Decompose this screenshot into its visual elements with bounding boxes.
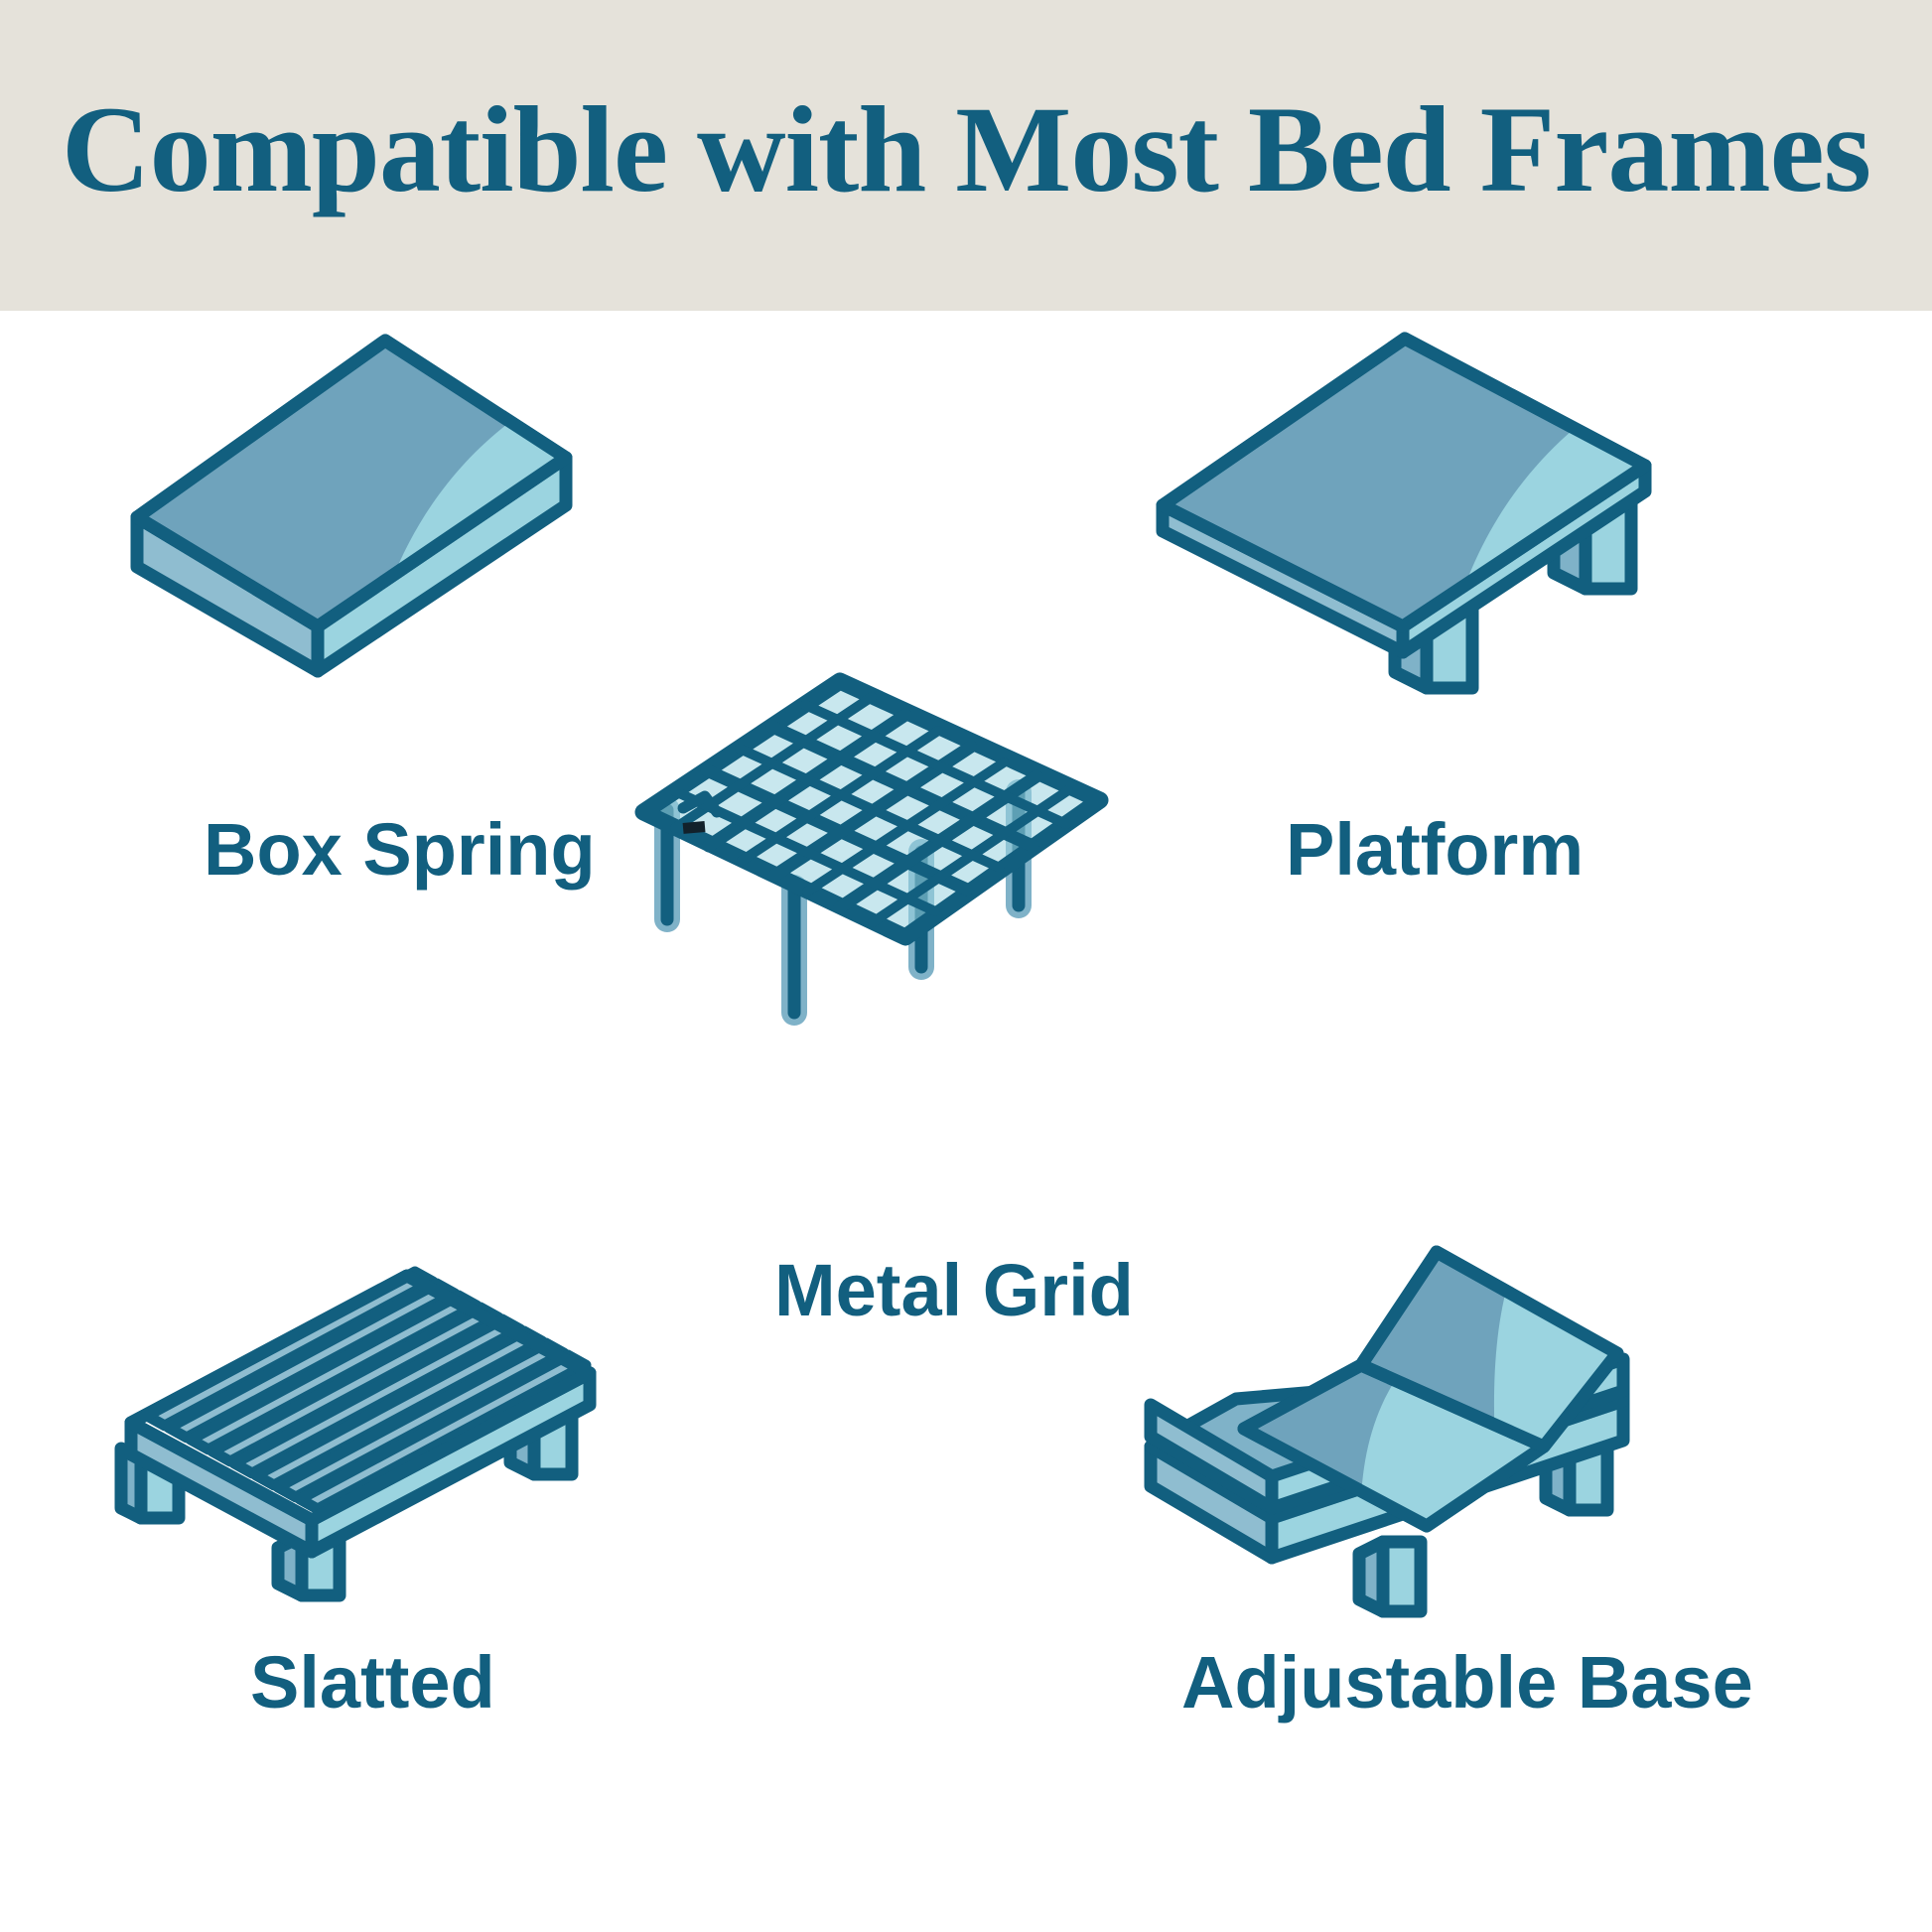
slatted-label: Slatted: [250, 1646, 495, 1720]
adjustable-base-icon: [1127, 1234, 1683, 1621]
platform-figure: [1137, 329, 1693, 656]
box-spring-label: Box Spring: [204, 813, 596, 887]
box-spring-figure: [107, 329, 594, 626]
metal-grid-label: Metal Grid: [774, 1254, 1134, 1327]
page-title: Compatible with Most Bed Frames: [62, 88, 1870, 211]
metal-grid-figure: [625, 663, 1132, 1021]
box-spring-icon: [107, 329, 594, 626]
grid-corner-tick: [683, 821, 706, 834]
illustration-stage: Box Spring: [0, 311, 1932, 1932]
slatted-figure: [117, 1254, 633, 1601]
platform-bed-icon: [1137, 329, 1693, 656]
slatted-base-icon: [117, 1254, 633, 1601]
adjustable-base-figure: [1127, 1234, 1683, 1621]
metal-grid-icon: [625, 663, 1132, 1021]
adjustable-base-label: Adjustable Base: [1181, 1646, 1753, 1720]
header-band: Compatible with Most Bed Frames: [0, 0, 1932, 311]
platform-label: Platform: [1286, 813, 1584, 887]
